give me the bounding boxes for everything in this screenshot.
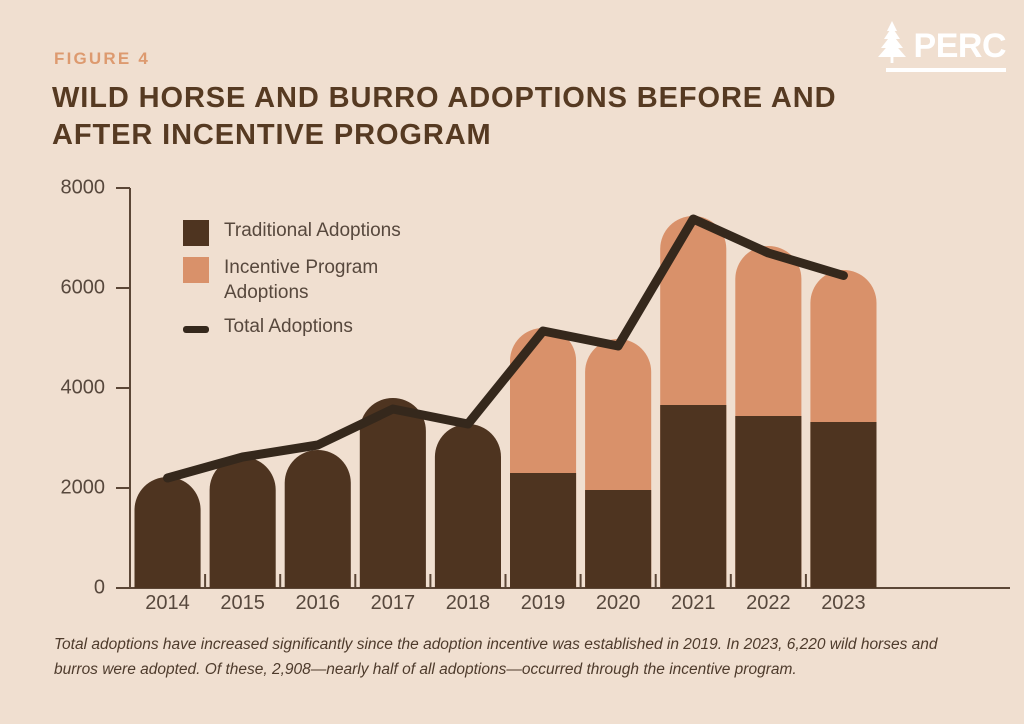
- x-axis-label: 2019: [521, 592, 566, 615]
- chart-legend: Traditional AdoptionsIncentive Program A…: [183, 218, 443, 348]
- bar-segment-traditional[interactable]: [210, 457, 276, 588]
- figure-root: FIGURE 4 WILD HORSE AND BURRO ADOPTIONS …: [0, 0, 1024, 719]
- bar-group[interactable]: [810, 270, 876, 588]
- bar-group[interactable]: [510, 328, 576, 588]
- x-axis-label: 2018: [446, 592, 491, 615]
- bar-segment-traditional[interactable]: [585, 490, 651, 588]
- bar-group[interactable]: [585, 339, 651, 588]
- bar-segment-traditional[interactable]: [135, 477, 201, 588]
- legend-color-swatch: [183, 257, 209, 283]
- x-axis-label: 2020: [596, 592, 641, 615]
- bar-segment-traditional[interactable]: [360, 398, 426, 588]
- x-axis-label: 2023: [821, 592, 866, 615]
- legend-item: Traditional Adoptions: [183, 218, 443, 246]
- figure-caption: Total adoptions have increased significa…: [54, 632, 959, 682]
- x-axis-label: 2017: [371, 592, 416, 615]
- x-axis-label: 2015: [220, 592, 265, 615]
- x-axis-label: 2014: [145, 592, 190, 615]
- bar-group[interactable]: [735, 246, 801, 588]
- y-axis-label: 4000: [61, 377, 106, 400]
- y-axis-label: 6000: [61, 277, 106, 300]
- x-axis-label: 2021: [671, 592, 716, 615]
- legend-item: Total Adoptions: [183, 314, 443, 339]
- x-axis-label: 2022: [746, 592, 791, 615]
- legend-item-label: Total Adoptions: [224, 314, 353, 339]
- y-axis-tick-labels: 02000400060008000: [30, 0, 105, 719]
- bar-group[interactable]: [660, 216, 726, 588]
- legend-color-swatch: [183, 220, 209, 246]
- bar-group[interactable]: [360, 398, 426, 588]
- bar-segment-traditional[interactable]: [510, 473, 576, 588]
- legend-line-swatch: [183, 326, 209, 333]
- legend-item: Incentive Program Adoptions: [183, 255, 443, 305]
- bar-group[interactable]: [135, 477, 201, 588]
- bar-segment-traditional[interactable]: [735, 416, 801, 588]
- bar-segment-traditional[interactable]: [435, 424, 501, 588]
- bar-segment-traditional[interactable]: [285, 450, 351, 588]
- bar-group[interactable]: [435, 424, 501, 588]
- y-axis-label: 8000: [61, 177, 106, 200]
- bar-group[interactable]: [285, 450, 351, 588]
- y-axis-label: 2000: [61, 477, 106, 500]
- legend-item-label: Traditional Adoptions: [224, 218, 401, 243]
- y-axis-label: 0: [94, 577, 105, 600]
- legend-item-label: Incentive Program Adoptions: [224, 255, 443, 305]
- bar-segment-traditional[interactable]: [810, 422, 876, 588]
- bar-group[interactable]: [210, 457, 276, 588]
- x-axis-label: 2016: [296, 592, 341, 615]
- bar-segment-traditional[interactable]: [660, 405, 726, 588]
